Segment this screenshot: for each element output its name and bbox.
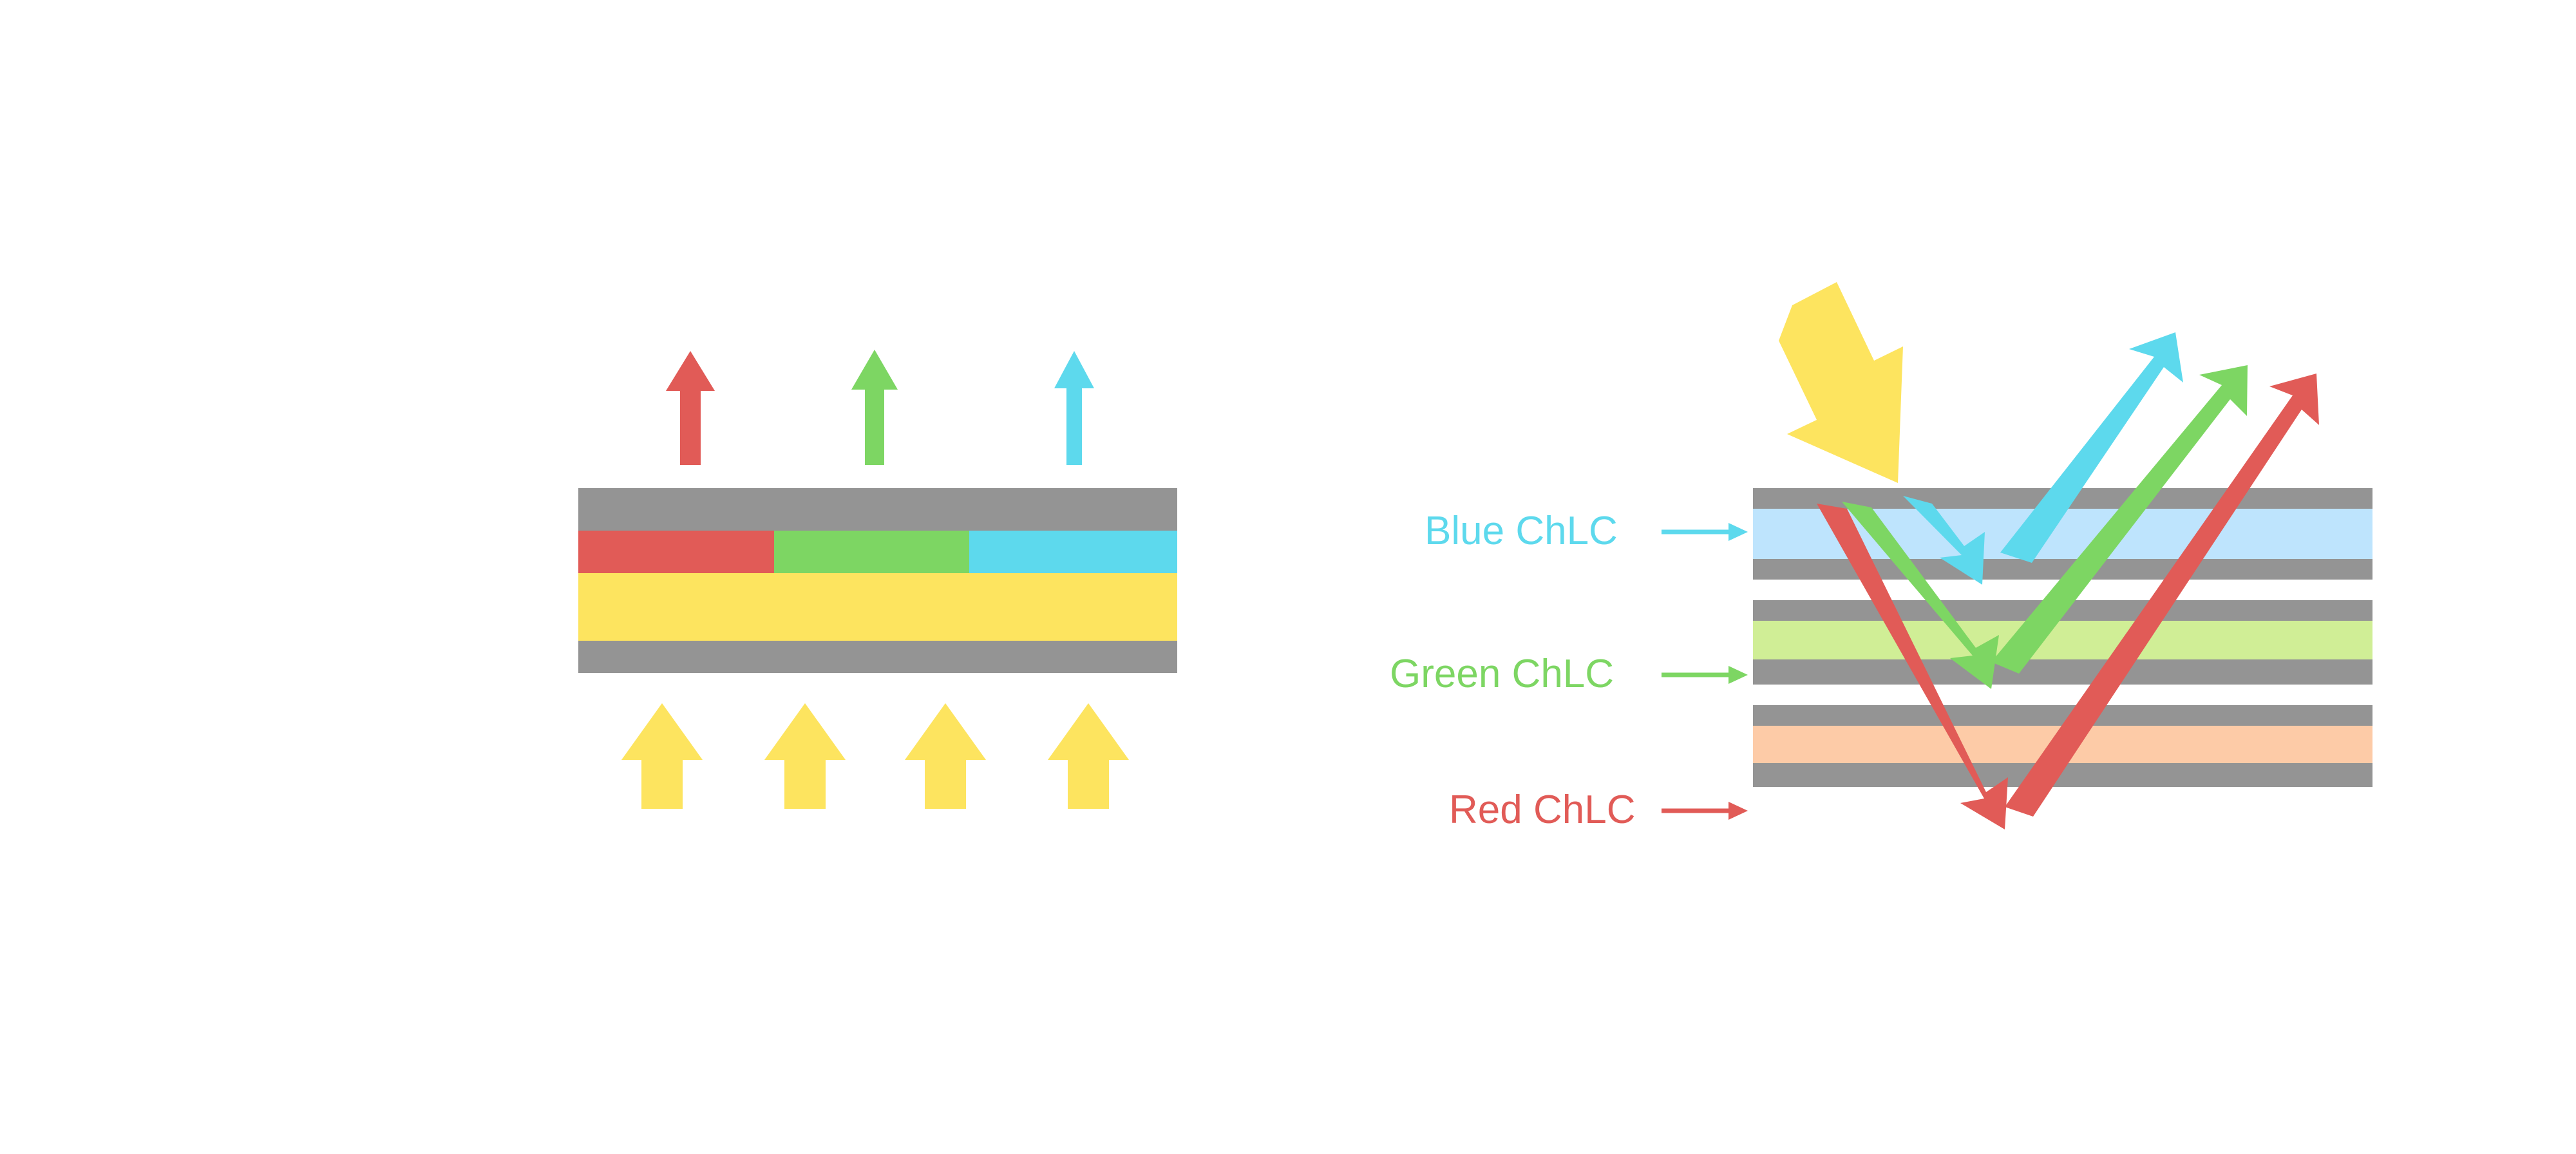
green-chlc-label-text: Green ChLC bbox=[1390, 652, 1614, 696]
emitted-green-arrow bbox=[851, 350, 898, 465]
red-chlc-label: Red ChLC bbox=[1449, 788, 1748, 832]
green-chlc-layer bbox=[1753, 621, 2372, 659]
right-panel-reflective-stack: Blue ChLC Green ChLC Red ChLC bbox=[1288, 0, 2576, 1154]
backlight-arrow-4 bbox=[1048, 703, 1129, 809]
blue-subpixel bbox=[969, 531, 1177, 573]
backlight-arrow-2 bbox=[764, 703, 846, 809]
emitted-red-arrow bbox=[666, 351, 715, 465]
red-subpixel bbox=[578, 531, 774, 573]
emitted-blue-arrow bbox=[1054, 351, 1094, 465]
backlight-arrow-1 bbox=[621, 703, 703, 809]
green-chlc-label-arrow-icon bbox=[1662, 666, 1748, 684]
blue-chlc-label: Blue ChLC bbox=[1425, 509, 1748, 553]
green-subpixel bbox=[774, 531, 969, 573]
incident-white-light-arrow bbox=[1779, 282, 1903, 483]
green-chlc-label: Green ChLC bbox=[1390, 652, 1748, 696]
backlight-arrow-3 bbox=[905, 703, 986, 809]
left-panel-transmissive-stack bbox=[0, 0, 1288, 1154]
left-layer-stack bbox=[578, 488, 1177, 673]
blue-chlc-label-arrow-icon bbox=[1662, 523, 1748, 541]
red-chlc-label-text: Red ChLC bbox=[1449, 788, 1635, 832]
gap-2 bbox=[1753, 685, 2372, 705]
yellow-backlight-layer bbox=[578, 573, 1177, 641]
diagram-canvas: Blue ChLC Green ChLC Red ChLC bbox=[0, 0, 2576, 1154]
green-cell-bottom-electrode bbox=[1753, 659, 2372, 685]
red-chlc-label-arrow-icon bbox=[1662, 802, 1748, 820]
red-cell-top-electrode bbox=[1753, 705, 2372, 726]
bottom-gray-electrode bbox=[578, 641, 1177, 673]
blue-chlc-label-text: Blue ChLC bbox=[1425, 509, 1618, 553]
top-gray-electrode bbox=[578, 488, 1177, 531]
